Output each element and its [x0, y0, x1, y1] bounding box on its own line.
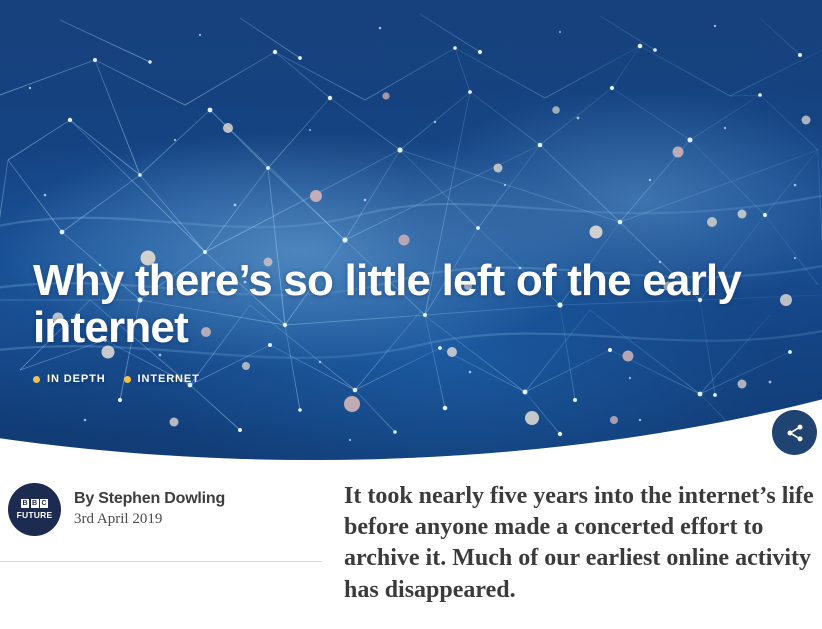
byline-divider [0, 561, 322, 562]
share-icon [785, 423, 805, 443]
tag-in-depth[interactable]: IN DEPTH [33, 373, 106, 385]
byline-text: By Stephen Dowling 3rd April 2019 [74, 483, 225, 528]
brand-word: FUTURE [17, 510, 53, 520]
standfirst: It took nearly five years into the inter… [344, 481, 814, 606]
tag-internet[interactable]: INTERNET [124, 373, 200, 385]
bbc-blocks: B B C [21, 499, 48, 508]
tag-label: IN DEPTH [47, 373, 106, 385]
share-button[interactable] [772, 410, 817, 455]
publish-date: 3rd April 2019 [74, 511, 225, 528]
bbc-letter-b2: B [31, 499, 39, 508]
hero-banner: Why there’s so little left of the early … [0, 0, 822, 460]
byline: B B C FUTURE By Stephen Dowling 3rd Apri… [8, 483, 324, 536]
article-page: Why there’s so little left of the early … [0, 0, 822, 629]
hero-content: Why there’s so little left of the early … [33, 258, 793, 385]
page-title: Why there’s so little left of the early … [33, 258, 793, 351]
bbc-letter-c: C [40, 499, 48, 508]
bbc-future-logo[interactable]: B B C FUTURE [8, 483, 61, 536]
author-name[interactable]: By Stephen Dowling [74, 490, 225, 508]
tag-dot-icon [33, 376, 40, 383]
tag-label: INTERNET [138, 373, 200, 385]
tag-dot-icon [124, 376, 131, 383]
network-graphic [0, 0, 822, 460]
bbc-letter-b1: B [21, 499, 29, 508]
tag-list: IN DEPTH INTERNET [33, 373, 793, 385]
